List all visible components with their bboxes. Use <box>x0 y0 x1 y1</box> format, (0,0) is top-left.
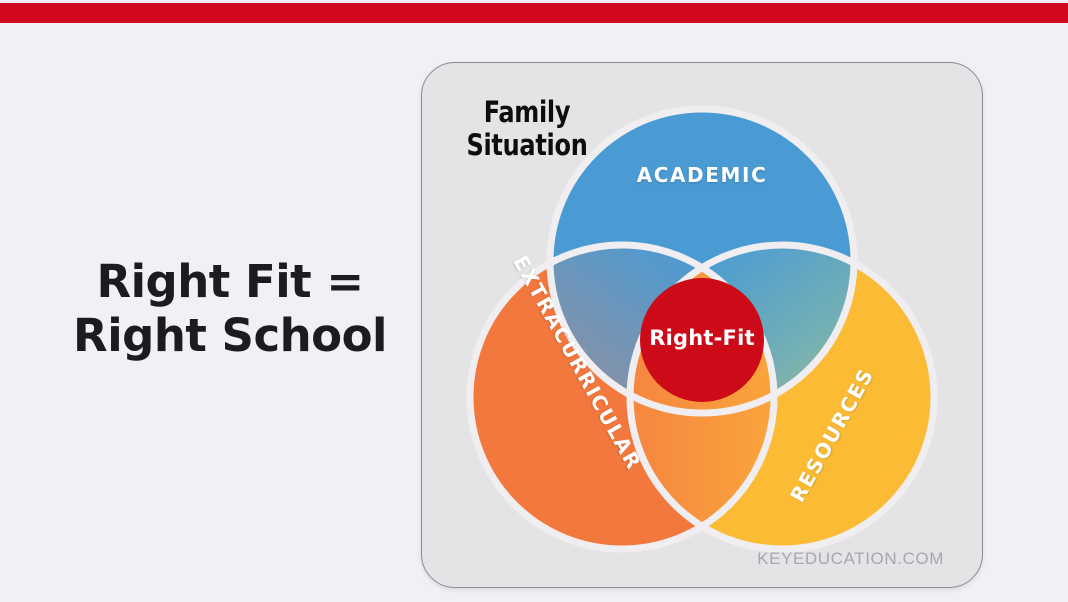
page-title-line-2: Right School <box>40 309 420 363</box>
top-accent-bar <box>0 3 1068 23</box>
venn-graphic <box>422 63 982 587</box>
circle-label-academic: ACADEMIC <box>422 163 982 187</box>
footer-website-url: KEYEDUCATION.COM <box>757 549 944 569</box>
venn-svg <box>422 63 982 587</box>
page-title: Right Fit = Right School <box>40 255 420 363</box>
venn-diagram-card: Family Situation <box>421 62 983 588</box>
page-title-line-1: Right Fit = <box>40 255 420 309</box>
circle-label-right-fit: Right-Fit <box>422 326 982 350</box>
